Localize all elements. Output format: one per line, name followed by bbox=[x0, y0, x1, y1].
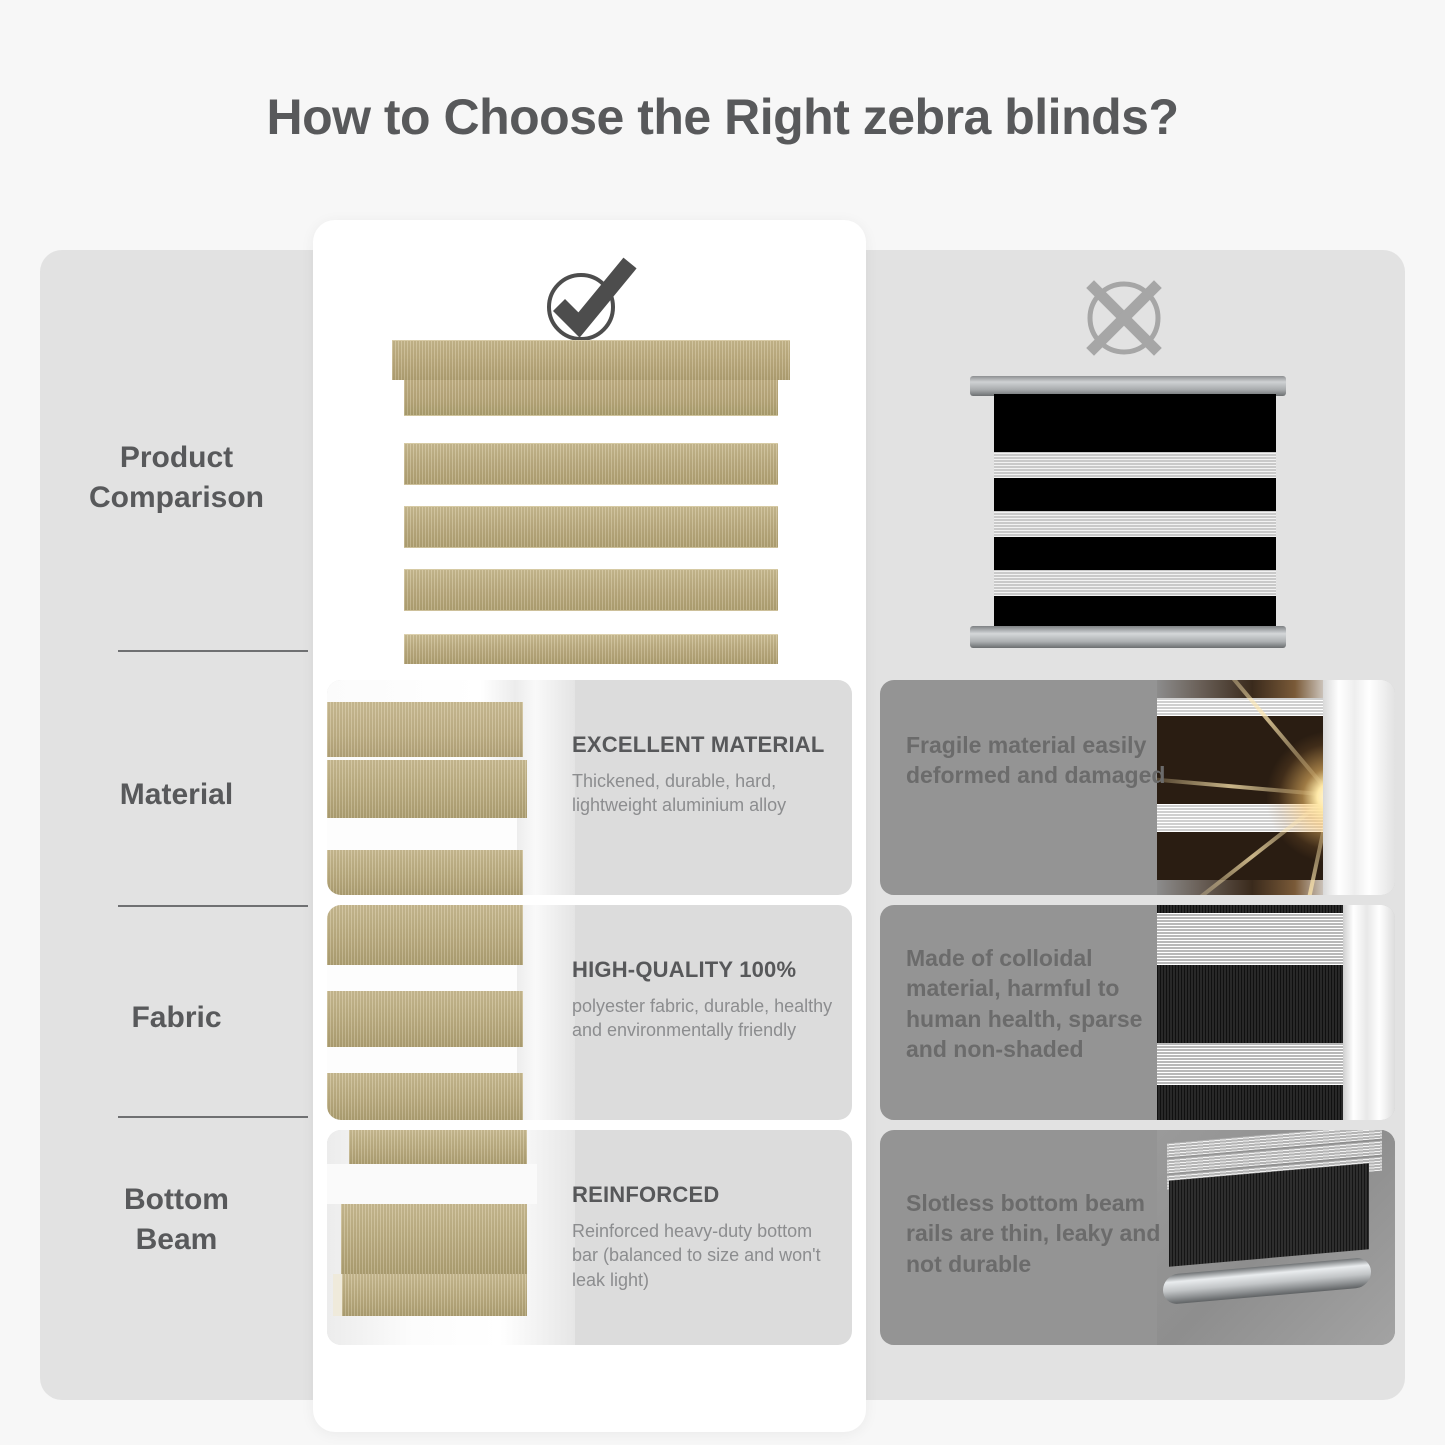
blind-sheer-stripe bbox=[994, 511, 1276, 537]
blind-band bbox=[404, 443, 778, 485]
feature-text-block: Made of colloidal material, harmful to h… bbox=[906, 943, 1176, 1064]
blind-band bbox=[404, 506, 778, 548]
feature-body: Thickened, durable, hard, lightweight al… bbox=[572, 769, 840, 818]
feature-card-good-fabric: HIGH-QUALITY 100% polyester fabric, dura… bbox=[327, 905, 852, 1120]
feature-text-block: Fragile material easily deformed and dam… bbox=[906, 730, 1176, 791]
feature-card-bad-fabric: Made of colloidal material, harmful to h… bbox=[880, 905, 1395, 1120]
light-leak-sunburst-photo bbox=[1157, 680, 1395, 895]
row-label-line-2: Comparison bbox=[40, 478, 313, 518]
sparse-black-fabric-photo bbox=[1157, 905, 1395, 1120]
beige-blind-window-closeup-photo bbox=[327, 680, 575, 895]
feature-card-bad-material: Fragile material easily deformed and dam… bbox=[880, 680, 1395, 895]
blind-fabric bbox=[994, 394, 1276, 626]
row-divider-1 bbox=[118, 650, 308, 652]
row-divider-3 bbox=[118, 1116, 308, 1118]
infographic-page: How to Choose the Right zebra blinds? Pr… bbox=[0, 0, 1445, 1445]
page-title: How to Choose the Right zebra blinds? bbox=[0, 88, 1445, 146]
row-label-bottom-beam: Bottom Beam bbox=[40, 1180, 313, 1260]
blind-bottom-bar bbox=[404, 634, 778, 664]
blind-sheer-stripe bbox=[994, 570, 1276, 596]
feature-text-block: Slotless bottom beam rails are thin, lea… bbox=[906, 1188, 1176, 1279]
row-label-product-comparison: Product Comparison bbox=[40, 438, 313, 518]
feature-card-good-material: EXCELLENT MATERIAL Thickened, durable, h… bbox=[327, 680, 852, 895]
row-label-material: Material bbox=[40, 775, 313, 815]
row-label-column: Product Comparison Material Fabric Botto… bbox=[40, 250, 313, 1400]
hero-image-beige-zebra-blind bbox=[382, 340, 797, 668]
feature-card-good-bottom-beam: REINFORCED Reinforced heavy-duty bottom … bbox=[327, 1130, 852, 1345]
feature-text-block: HIGH-QUALITY 100% polyester fabric, dura… bbox=[572, 957, 840, 1043]
feature-body: Made of colloidal material, harmful to h… bbox=[906, 943, 1176, 1064]
row-label-line-2: Beam bbox=[40, 1220, 313, 1260]
cross-circle-icon bbox=[1078, 272, 1170, 364]
row-divider-2 bbox=[118, 905, 308, 907]
blind-headrail bbox=[392, 340, 790, 380]
blind-bottom-bar bbox=[970, 626, 1286, 648]
blind-top-band bbox=[404, 380, 778, 416]
blind-headrail bbox=[970, 376, 1286, 396]
feature-heading: EXCELLENT MATERIAL bbox=[572, 732, 840, 758]
feature-card-bad-bottom-beam: Slotless bottom beam rails are thin, lea… bbox=[880, 1130, 1395, 1345]
blind-band bbox=[404, 569, 778, 611]
feature-body: Fragile material easily deformed and dam… bbox=[906, 730, 1176, 791]
row-label-line-1: Product bbox=[40, 438, 313, 478]
row-label-line-1: Bottom bbox=[40, 1180, 313, 1220]
row-label-fabric: Fabric bbox=[40, 998, 313, 1038]
feature-body: Slotless bottom beam rails are thin, lea… bbox=[906, 1188, 1176, 1279]
feature-heading: HIGH-QUALITY 100% bbox=[572, 957, 840, 983]
feature-text-block: EXCELLENT MATERIAL Thickened, durable, h… bbox=[572, 732, 840, 818]
beige-fabric-closeup-photo bbox=[327, 905, 575, 1120]
feature-heading: REINFORCED bbox=[572, 1182, 840, 1208]
reinforced-bottom-bar-photo bbox=[327, 1130, 575, 1345]
check-circle-icon bbox=[538, 255, 638, 347]
hero-image-black-zebra-blind bbox=[968, 368, 1288, 658]
feature-body: polyester fabric, durable, healthy and e… bbox=[572, 994, 840, 1043]
feature-body: Reinforced heavy-duty bottom bar (balanc… bbox=[572, 1219, 840, 1292]
blind-sheer-stripe bbox=[994, 452, 1276, 478]
thin-bottom-rail-photo bbox=[1157, 1130, 1395, 1345]
feature-text-block: REINFORCED Reinforced heavy-duty bottom … bbox=[572, 1182, 840, 1292]
